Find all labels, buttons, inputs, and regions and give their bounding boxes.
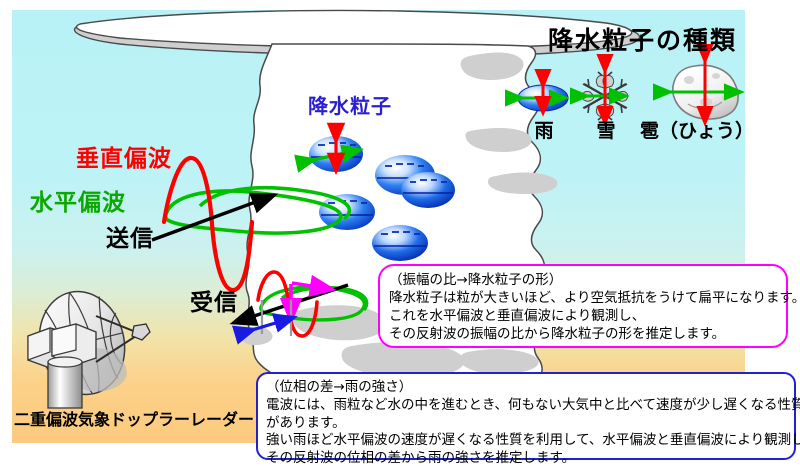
diagram-canvas: 垂直偏波 水平偏波 送信 受信 降水粒子 降水粒子の種類 二重偏波気象ドップラー… xyxy=(0,0,800,471)
amplitude-callout-box: （振幅の比→降水粒子の形） 降水粒子は粒が大きいほど、より空気抵抗をうけて扁平に… xyxy=(378,264,788,348)
particle-types-title: 降水粒子の種類 xyxy=(548,28,737,53)
amplitude-line-2: これを水平偏波と垂直偏波により観測し、 xyxy=(389,308,778,326)
amplitude-line-1: 降水粒子は粒が大きいほど、より空気抵抗をうけて扁平になります。 xyxy=(389,290,778,308)
vertical-polarization-label: 垂直偏波 xyxy=(76,148,172,171)
phase-line-1: 電波には、雨粒など水の中を進むとき、何もない大気中と比べて速度が少し遅くなる性質 xyxy=(266,397,788,415)
amplitude-heading: （振幅の比→降水粒子の形） xyxy=(389,272,778,290)
legend-name-snow: 雪 xyxy=(586,116,626,143)
phase-line-3: 強い雨ほど水平偏波の速度が遅くなる性質を利用して、水平偏波と垂直偏波により観測し… xyxy=(266,432,788,450)
legend-name-rain: 雨 xyxy=(524,116,564,143)
precipitation-particles-label: 降水粒子 xyxy=(308,96,392,116)
amplitude-line-3: その反射波の振幅の比から降水粒子の形を推定します。 xyxy=(389,326,778,344)
horizontal-polarization-label: 水平偏波 xyxy=(30,192,126,215)
phase-heading: （位相の差→雨の強さ） xyxy=(266,379,788,397)
legend-name-hail: 雹（ひょう） xyxy=(640,116,750,143)
phase-line-4: その反射波の位相の差から雨の強さを推定します。 xyxy=(266,450,788,468)
transmit-label: 送信 xyxy=(106,228,154,251)
phase-callout-box: （位相の差→雨の強さ） 電波には、雨粒など水の中を進むとき、何もない大気中と比べ… xyxy=(256,372,796,460)
receive-label: 受信 xyxy=(190,292,238,315)
radar-name-label: 二重偏波気象ドップラーレーダー xyxy=(14,412,254,428)
phase-line-2: があります。 xyxy=(266,415,788,433)
